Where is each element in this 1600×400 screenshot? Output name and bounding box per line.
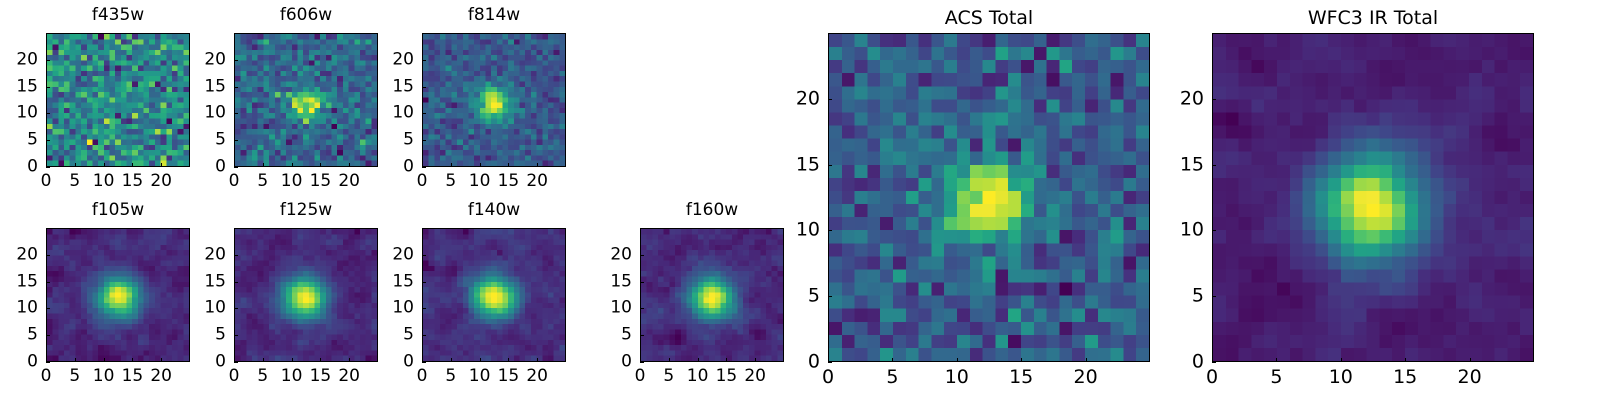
y-tick	[234, 140, 238, 141]
x-tick	[508, 358, 509, 362]
x-tick-label: 0	[417, 173, 428, 190]
x-tick	[537, 358, 538, 362]
x-tick-label: 20	[338, 173, 360, 190]
x-tick-label: 5	[69, 173, 80, 190]
y-tick	[46, 167, 50, 168]
y-tick	[46, 362, 50, 363]
panel-wfc3-ir-total: WFC3 IR Total0055101015152020	[1152, 7, 1534, 396]
panel-title: WFC3 IR Total	[1212, 9, 1534, 28]
x-tick-label: 15	[1009, 368, 1033, 387]
x-tick-label: 20	[338, 368, 360, 385]
y-tick-label: 20	[0, 51, 38, 68]
heatmap-image	[234, 228, 378, 362]
y-tick-label: 15	[0, 78, 38, 95]
x-tick	[263, 358, 264, 362]
y-tick-label: 5	[1152, 287, 1204, 306]
y-tick	[422, 362, 426, 363]
x-tick	[537, 163, 538, 167]
y-tick	[422, 335, 426, 336]
y-tick	[234, 308, 238, 309]
y-tick-label: 0	[362, 159, 414, 176]
panel-title: ACS Total	[828, 9, 1150, 28]
y-tick-label: 15	[362, 78, 414, 95]
y-tick	[828, 362, 832, 363]
y-tick	[46, 140, 50, 141]
x-tick-label: 5	[257, 173, 268, 190]
x-tick	[1021, 358, 1022, 362]
y-tick-label: 0	[0, 354, 38, 371]
x-tick-label: 15	[122, 368, 144, 385]
x-tick-label: 10	[469, 173, 491, 190]
y-tick	[46, 282, 50, 283]
y-tick	[640, 282, 644, 283]
x-tick-label: 10	[1329, 368, 1353, 387]
x-tick	[1341, 358, 1342, 362]
x-tick-label: 10	[281, 173, 303, 190]
y-tick	[640, 362, 644, 363]
y-tick	[422, 60, 426, 61]
x-tick	[132, 358, 133, 362]
y-tick-label: 5	[174, 327, 226, 344]
y-tick	[1212, 296, 1216, 297]
y-tick-label: 5	[0, 132, 38, 149]
y-tick-label: 15	[174, 273, 226, 290]
y-tick	[422, 167, 426, 168]
panel-title: f160w	[640, 202, 784, 219]
x-tick	[104, 163, 105, 167]
y-tick	[422, 282, 426, 283]
panel-f140w: f140w0055101015152020	[362, 202, 566, 396]
panel-f160w: f160w0055101015152020	[580, 202, 784, 396]
y-tick	[46, 60, 50, 61]
x-tick	[1276, 358, 1277, 362]
x-tick-label: 0	[229, 368, 240, 385]
x-tick-label: 5	[886, 368, 898, 387]
y-tick-label: 10	[1152, 221, 1204, 240]
y-tick-label: 5	[362, 327, 414, 344]
y-tick-label: 5	[174, 132, 226, 149]
panel-title: f140w	[422, 202, 566, 219]
panel-f606w: f606w0055101015152020	[174, 7, 378, 201]
y-tick	[422, 255, 426, 256]
y-tick	[422, 308, 426, 309]
y-tick	[1212, 99, 1216, 100]
x-tick-label: 0	[41, 368, 52, 385]
x-tick-label: 10	[281, 368, 303, 385]
panel-f435w: f435w0055101015152020	[0, 7, 190, 201]
x-tick	[161, 163, 162, 167]
y-tick-label: 10	[362, 105, 414, 122]
y-tick-label: 15	[174, 78, 226, 95]
x-tick-label: 15	[498, 173, 520, 190]
panel-title: f435w	[46, 7, 190, 24]
x-tick-label: 15	[310, 368, 332, 385]
y-tick-label: 10	[174, 300, 226, 317]
y-tick-label: 10	[0, 300, 38, 317]
y-tick	[640, 308, 644, 309]
y-tick	[422, 87, 426, 88]
x-tick	[480, 163, 481, 167]
x-tick	[698, 358, 699, 362]
y-tick	[422, 113, 426, 114]
y-tick-label: 0	[0, 159, 38, 176]
x-tick	[75, 358, 76, 362]
x-tick-label: 15	[1393, 368, 1417, 387]
y-tick	[422, 140, 426, 141]
x-tick	[320, 358, 321, 362]
y-tick-label: 20	[362, 51, 414, 68]
x-tick	[263, 163, 264, 167]
x-tick-label: 0	[635, 368, 646, 385]
y-tick	[640, 335, 644, 336]
y-tick-label: 5	[362, 132, 414, 149]
x-tick-label: 0	[41, 173, 52, 190]
x-tick	[1086, 358, 1087, 362]
y-tick-label: 10	[768, 221, 820, 240]
x-tick-label: 20	[150, 173, 172, 190]
y-tick-label: 15	[0, 273, 38, 290]
x-tick-label: 0	[1206, 368, 1218, 387]
panel-title: f606w	[234, 7, 378, 24]
y-tick	[1212, 230, 1216, 231]
x-tick	[451, 163, 452, 167]
x-tick	[292, 163, 293, 167]
panel-f105w: f105w0055101015152020	[0, 202, 190, 396]
heatmap-image	[422, 228, 566, 362]
x-tick	[320, 163, 321, 167]
x-tick	[755, 358, 756, 362]
y-tick	[234, 60, 238, 61]
y-tick-label: 15	[362, 273, 414, 290]
y-tick-label: 0	[362, 354, 414, 371]
y-tick-label: 5	[0, 327, 38, 344]
x-tick	[349, 163, 350, 167]
y-tick	[46, 255, 50, 256]
y-tick	[828, 165, 832, 166]
y-tick-label: 10	[362, 300, 414, 317]
figure-canvas: f435w0055101015152020f606w00551010151520…	[0, 0, 1600, 400]
y-tick-label: 10	[0, 105, 38, 122]
y-tick	[234, 362, 238, 363]
x-tick	[480, 358, 481, 362]
x-tick-label: 15	[498, 368, 520, 385]
x-tick	[292, 358, 293, 362]
x-tick-label: 5	[445, 368, 456, 385]
heatmap-image	[828, 33, 1150, 362]
y-tick	[1212, 165, 1216, 166]
y-tick-label: 5	[768, 287, 820, 306]
y-tick-label: 15	[768, 155, 820, 174]
x-tick-label: 0	[417, 368, 428, 385]
x-tick	[161, 358, 162, 362]
x-tick	[892, 358, 893, 362]
panel-f814w: f814w0055101015152020	[362, 7, 566, 201]
y-tick	[828, 296, 832, 297]
heatmap-image	[640, 228, 784, 362]
x-tick	[104, 358, 105, 362]
y-tick-label: 0	[580, 354, 632, 371]
panel-title: f105w	[46, 202, 190, 219]
x-tick	[508, 163, 509, 167]
y-tick-label: 5	[580, 327, 632, 344]
x-tick-label: 10	[93, 368, 115, 385]
x-tick-label: 20	[1074, 368, 1098, 387]
y-tick	[234, 282, 238, 283]
y-tick-label: 10	[174, 105, 226, 122]
x-tick-label: 20	[744, 368, 766, 385]
x-tick-label: 20	[1458, 368, 1482, 387]
x-tick-label: 20	[150, 368, 172, 385]
y-tick-label: 0	[1152, 353, 1204, 372]
y-tick	[234, 87, 238, 88]
heatmap-image	[46, 228, 190, 362]
heatmap-image	[46, 33, 190, 167]
heatmap-image	[422, 33, 566, 167]
y-tick	[46, 308, 50, 309]
y-tick-label: 0	[174, 354, 226, 371]
x-tick	[1470, 358, 1471, 362]
x-tick	[75, 163, 76, 167]
y-tick	[234, 335, 238, 336]
x-tick-label: 10	[469, 368, 491, 385]
x-tick	[1405, 358, 1406, 362]
y-tick	[828, 99, 832, 100]
y-tick-label: 20	[768, 89, 820, 108]
y-tick	[234, 167, 238, 168]
y-tick	[640, 255, 644, 256]
x-tick-label: 5	[69, 368, 80, 385]
x-tick	[726, 358, 727, 362]
x-tick-label: 15	[310, 173, 332, 190]
x-tick-label: 20	[526, 368, 548, 385]
x-tick-label: 5	[663, 368, 674, 385]
x-tick-label: 10	[945, 368, 969, 387]
y-tick-label: 0	[174, 159, 226, 176]
y-tick-label: 10	[580, 300, 632, 317]
y-tick-label: 20	[362, 246, 414, 263]
panel-f125w: f125w0055101015152020	[174, 202, 378, 396]
panel-acs-total: ACS Total0055101015152020	[768, 7, 1150, 396]
x-tick	[349, 358, 350, 362]
y-tick-label: 15	[580, 273, 632, 290]
y-tick	[234, 113, 238, 114]
y-tick-label: 20	[174, 51, 226, 68]
y-tick	[1212, 362, 1216, 363]
x-tick-label: 10	[687, 368, 709, 385]
x-tick-label: 20	[526, 173, 548, 190]
y-tick	[828, 230, 832, 231]
y-tick-label: 15	[1152, 155, 1204, 174]
y-tick	[46, 87, 50, 88]
x-tick-label: 15	[122, 173, 144, 190]
y-tick	[234, 255, 238, 256]
x-tick-label: 0	[229, 173, 240, 190]
y-tick-label: 0	[768, 353, 820, 372]
heatmap-image	[234, 33, 378, 167]
y-tick	[46, 113, 50, 114]
heatmap-image	[1212, 33, 1534, 362]
x-tick	[132, 163, 133, 167]
y-tick-label: 20	[174, 246, 226, 263]
x-tick	[451, 358, 452, 362]
x-tick	[669, 358, 670, 362]
panel-title: f814w	[422, 7, 566, 24]
y-tick-label: 20	[580, 246, 632, 263]
panel-title: f125w	[234, 202, 378, 219]
x-tick-label: 5	[445, 173, 456, 190]
x-tick-label: 5	[1270, 368, 1282, 387]
y-tick	[46, 335, 50, 336]
x-tick-label: 15	[716, 368, 738, 385]
x-tick-label: 0	[822, 368, 834, 387]
x-tick-label: 5	[257, 368, 268, 385]
x-tick	[957, 358, 958, 362]
y-tick-label: 20	[0, 246, 38, 263]
x-tick-label: 10	[93, 173, 115, 190]
y-tick-label: 20	[1152, 89, 1204, 108]
